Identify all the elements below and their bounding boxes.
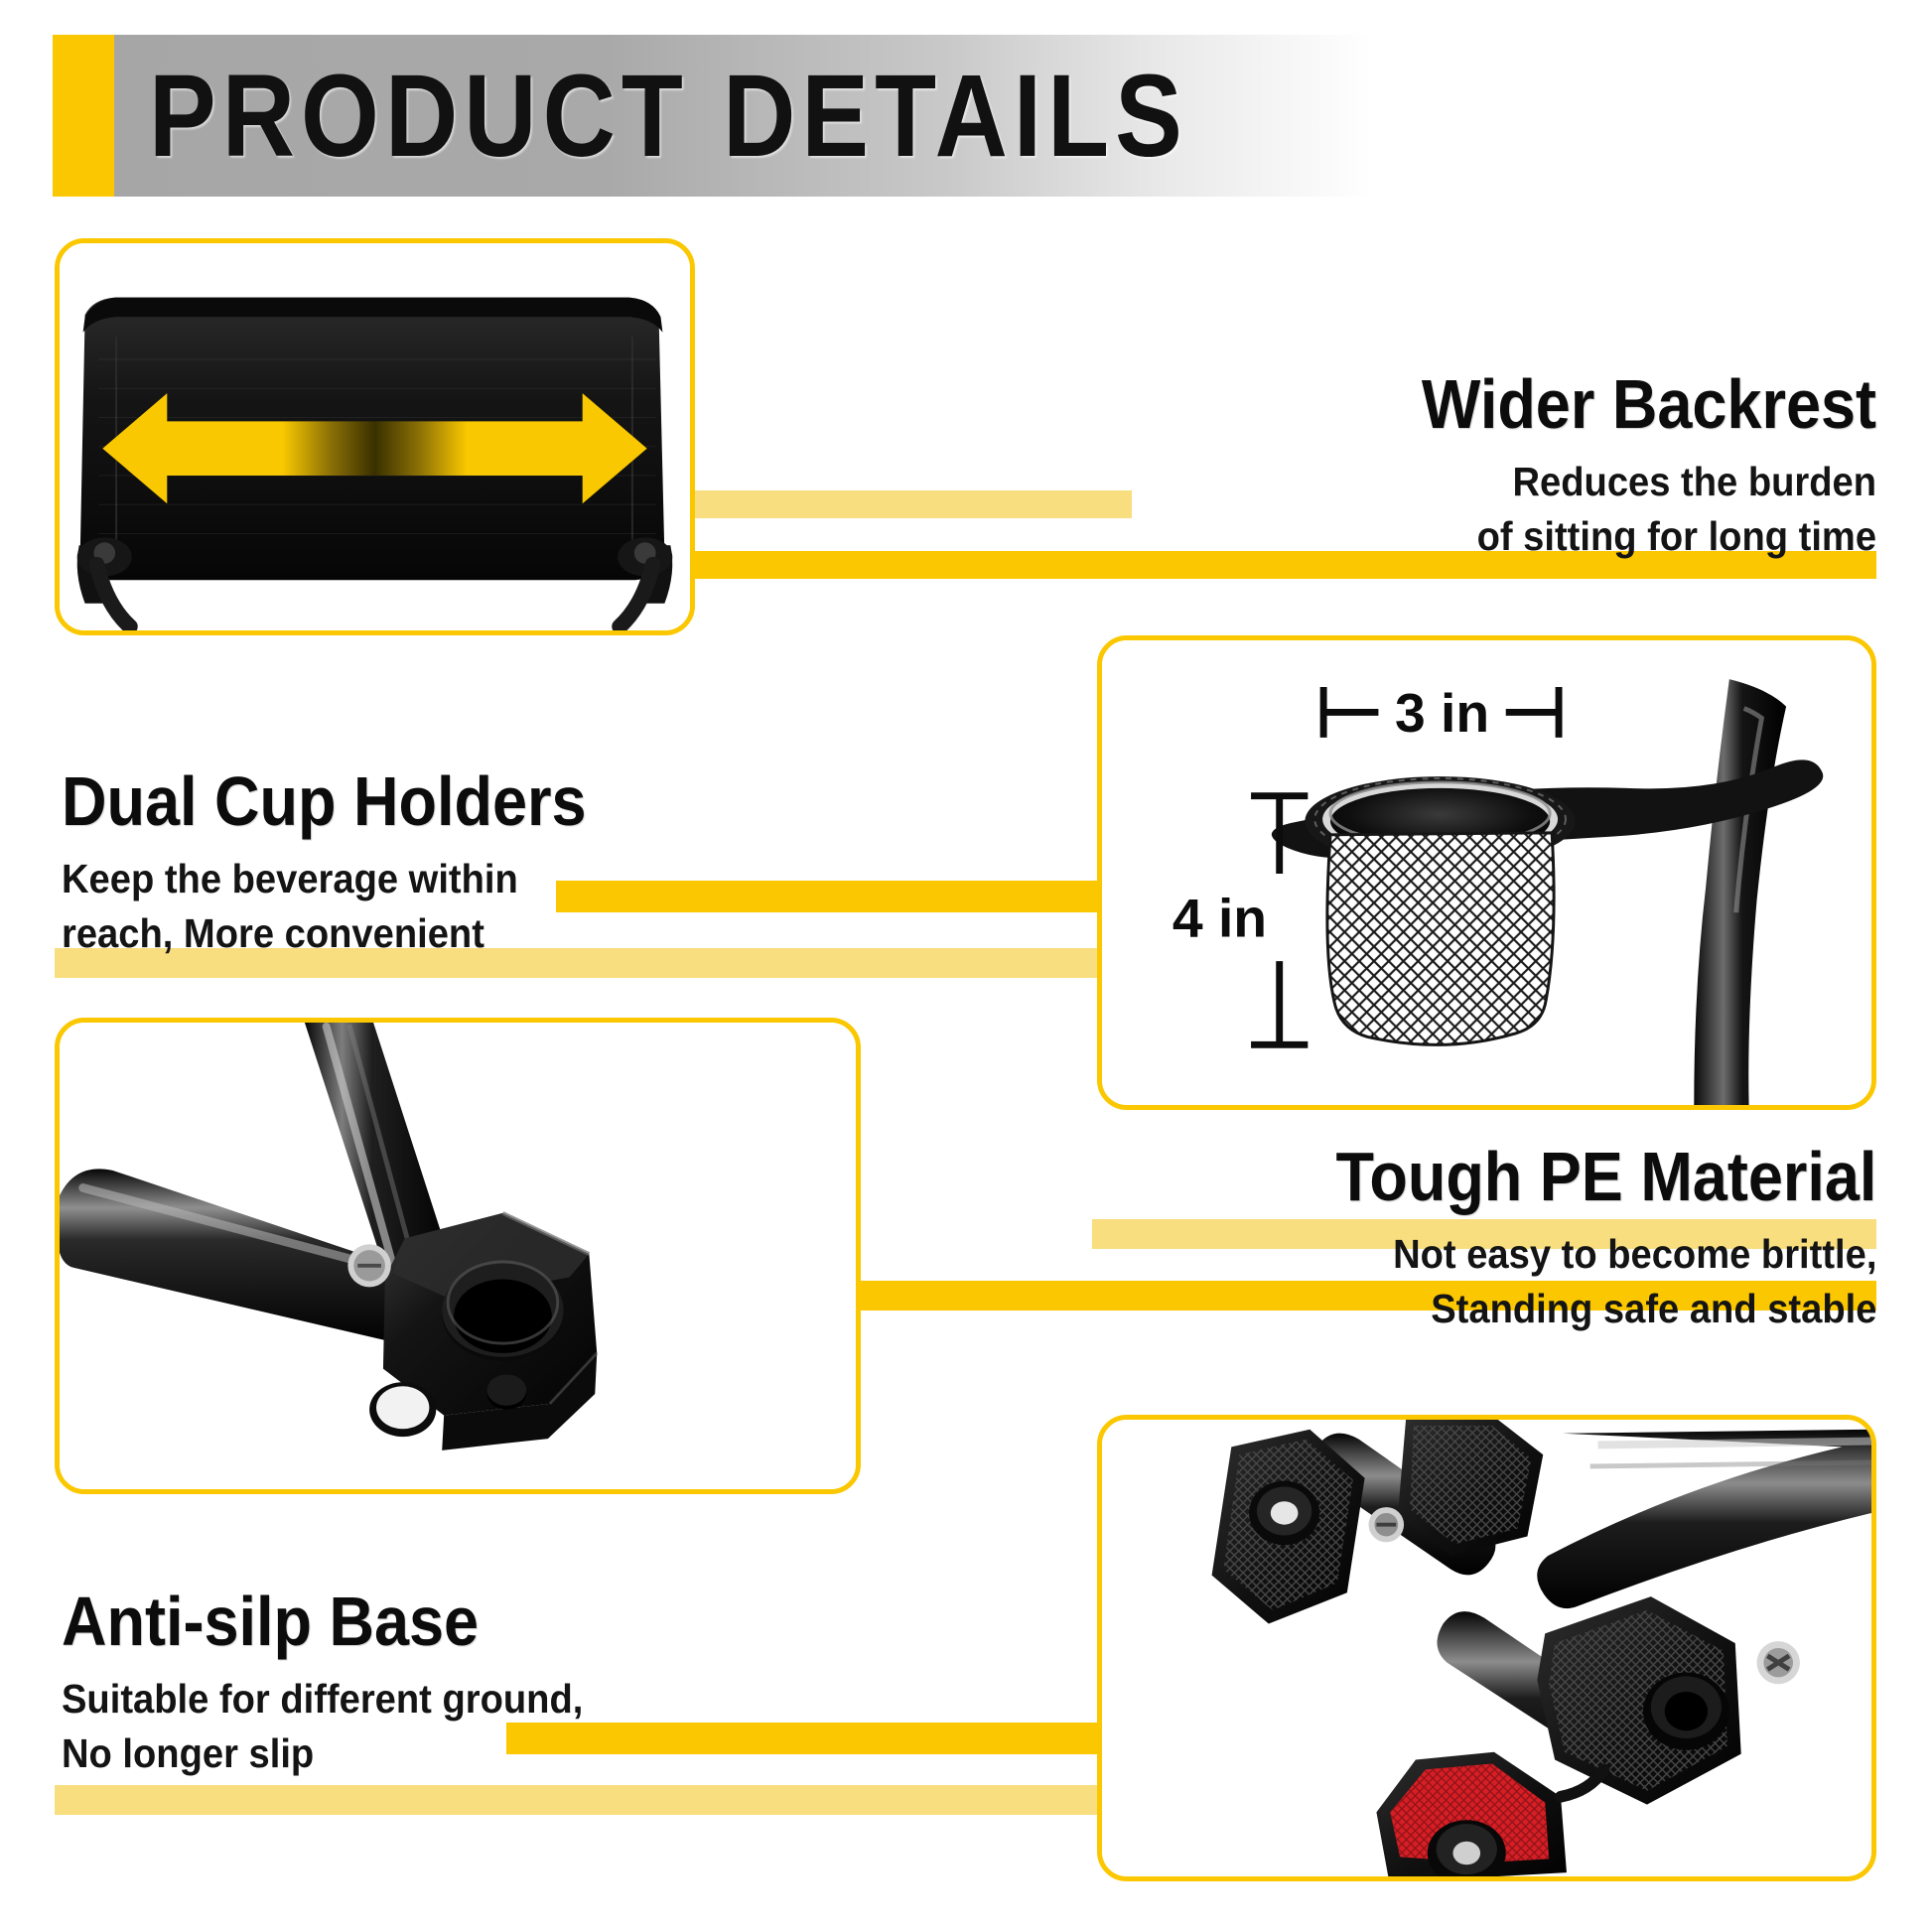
dimension-height-label: 4 in: [1173, 888, 1267, 949]
feature-title: Wider Backrest: [1422, 369, 1876, 440]
dimension-width-label: 3 in: [1395, 682, 1489, 744]
feature-subtitle-line2: reach, More convenient: [62, 907, 604, 959]
feature-subtitle-line2: No longer slip: [62, 1727, 583, 1779]
feature-text-tough-pe-material: Tough PE Material Not easy to become bri…: [1276, 1142, 1876, 1334]
feature-title: Dual Cup Holders: [62, 766, 587, 837]
product-details-infographic: PRODUCT DETAILS: [0, 0, 1932, 1932]
feature-subtitle-line1: Reduces the burden: [1407, 456, 1876, 507]
panel-tough-pe-material: [55, 1018, 861, 1494]
feature-subtitle-line1: Keep the beverage within: [62, 853, 604, 904]
header-accent-block: [53, 35, 114, 197]
connector-bar-backrest-light: [695, 490, 1132, 518]
feature-subtitle-line1: Not easy to become brittle,: [1317, 1228, 1876, 1280]
cup-holder-photo: 3 in 4 in: [1102, 640, 1871, 1105]
pe-joint-photo: [60, 1023, 856, 1489]
backrest-photo: [60, 243, 690, 630]
feature-subtitle-line2: Standing safe and stable: [1317, 1283, 1876, 1334]
feature-subtitle-line1: Suitable for different ground,: [62, 1673, 583, 1725]
foot-pad-upper-left: [1212, 1430, 1365, 1624]
feature-subtitle-line2: of sitting for long time: [1407, 510, 1876, 562]
cup-holder-mesh: [1327, 833, 1554, 1045]
feature-title: Anti-silp Base: [62, 1587, 566, 1657]
anti-slip-base-photo: [1102, 1420, 1871, 1876]
panel-dual-cup-holders: 3 in 4 in: [1097, 635, 1876, 1110]
panel-anti-slip-base: [1097, 1415, 1876, 1881]
feature-text-anti-slip-base: Anti-silp Base Suitable for different gr…: [62, 1587, 622, 1779]
feature-text-wider-backrest: Wider Backrest Reduces the burden of sit…: [1371, 369, 1876, 562]
feature-text-dual-cup-holders: Dual Cup Holders Keep the beverage withi…: [62, 766, 644, 959]
connector-bar-antislip-light: [55, 1785, 1097, 1815]
panel-wider-backrest: [55, 238, 695, 635]
page-title: PRODUCT DETAILS: [149, 35, 1188, 197]
feature-title: Tough PE Material: [1335, 1142, 1876, 1212]
